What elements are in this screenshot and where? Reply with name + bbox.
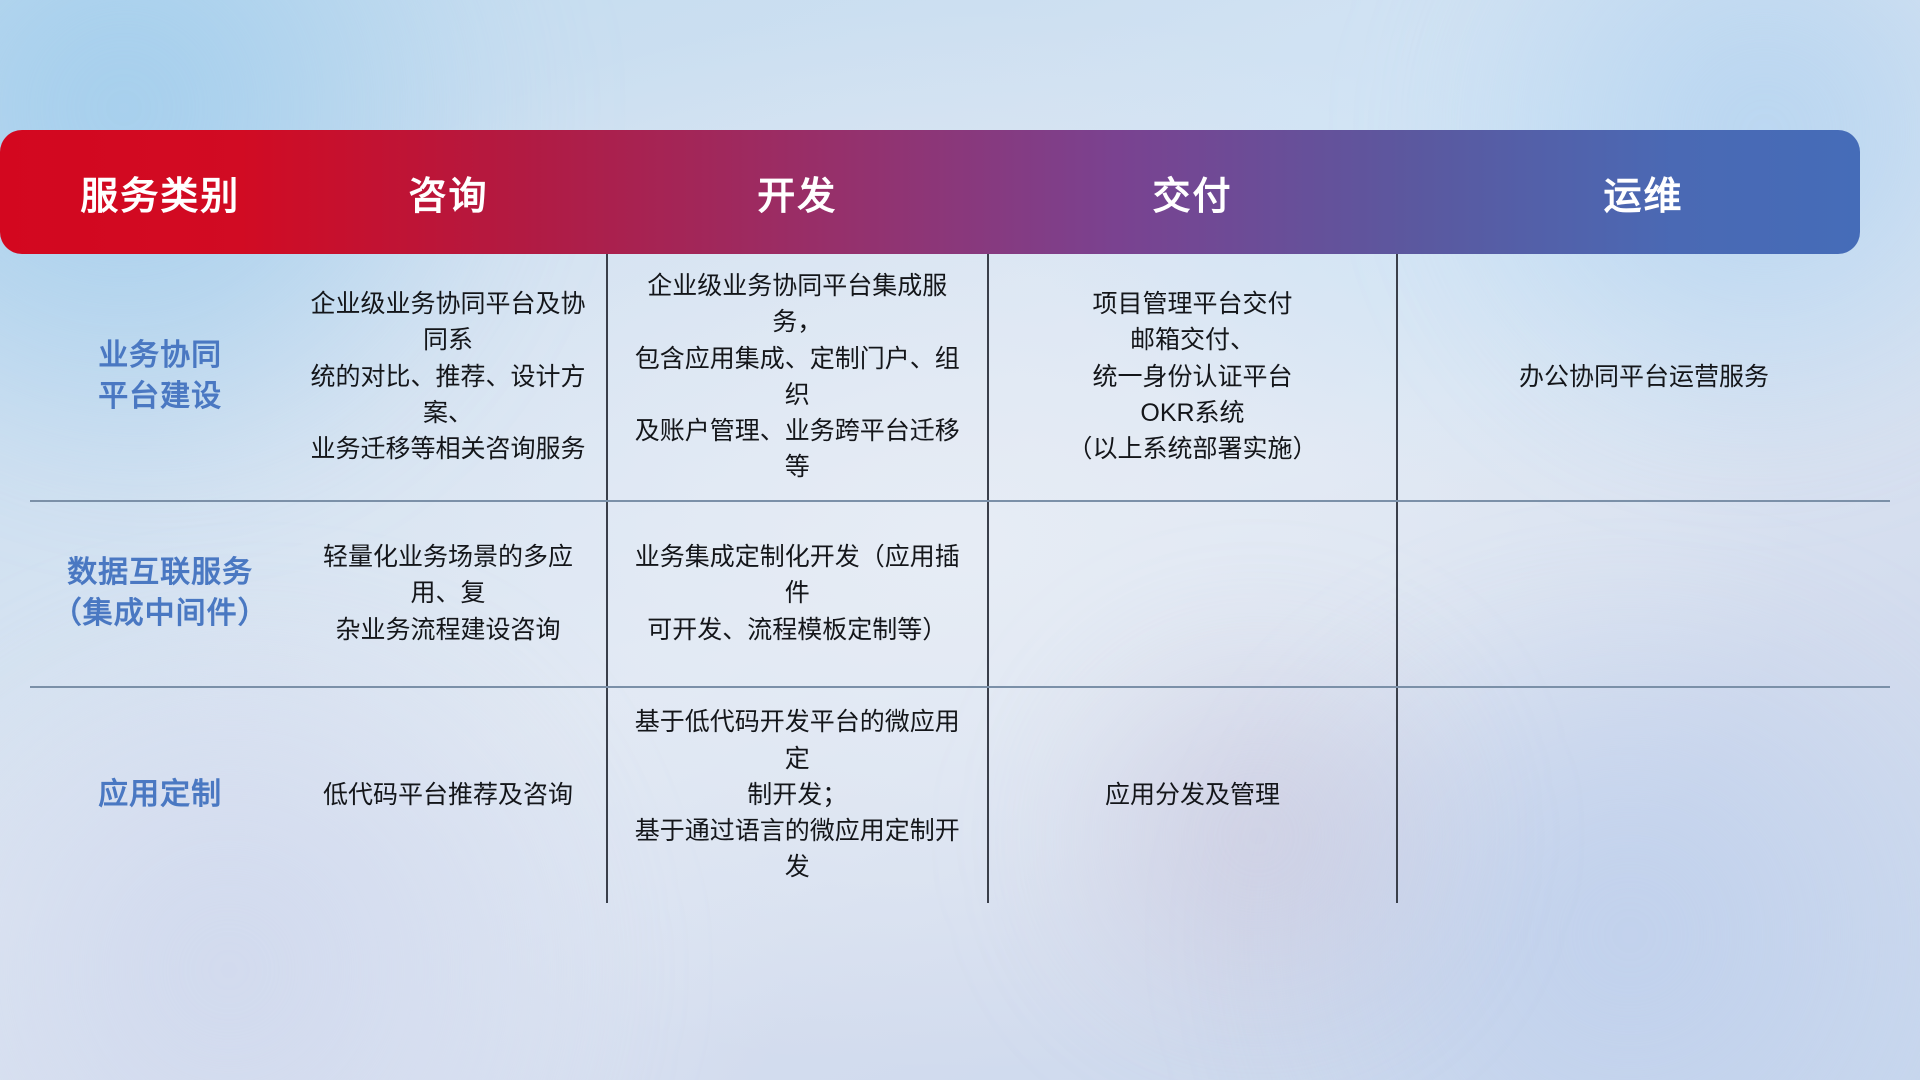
header-cell-delivery: 交付 — [988, 130, 1397, 254]
cell-text: 应用分发及管理 — [1105, 781, 1280, 809]
cell-category-row3: 应用定制 — [30, 687, 290, 903]
category-label: 数据互联服务 （集成中间件） — [52, 556, 269, 630]
service-matrix: 服务类别 咨询 开发 交付 运维 业务协同 平台建设 企业级业务协同平台及协同系… — [30, 130, 1890, 903]
cell-text: 企业级业务协同平台集成服务， 包含应用集成、定制门户、组织 及账户管理、业务跨平… — [635, 272, 960, 481]
cell-consulting-row3: 低代码平台推荐及咨询 — [290, 687, 606, 903]
header-cell-development: 开发 — [607, 130, 988, 254]
cell-development-row2: 业务集成定制化开发（应用插件 可开发、流程模板定制等） — [607, 501, 988, 687]
category-label: 应用定制 — [98, 778, 222, 811]
cell-text: 办公协同平台运营服务 — [1519, 363, 1769, 391]
cell-text: 项目管理平台交付 邮箱交付、 统一身份认证平台 OKR系统 （以上系统部署实施） — [1067, 290, 1317, 463]
table-row: 数据互联服务 （集成中间件） 轻量化业务场景的多应用、复 杂业务流程建设咨询 业… — [30, 501, 1890, 687]
header-cell-category: 服务类别 — [30, 130, 290, 254]
cell-text: 低代码平台推荐及咨询 — [323, 781, 573, 809]
cell-operations-row3 — [1397, 687, 1890, 903]
cell-development-row1: 企业级业务协同平台集成服务， 包含应用集成、定制门户、组织 及账户管理、业务跨平… — [607, 254, 988, 501]
header-row: 服务类别 咨询 开发 交付 运维 — [30, 130, 1890, 254]
table-head: 服务类别 咨询 开发 交付 运维 — [30, 130, 1890, 254]
cell-delivery-row3: 应用分发及管理 — [988, 687, 1397, 903]
cell-delivery-row2 — [988, 501, 1397, 687]
cell-text: 轻量化业务场景的多应用、复 杂业务流程建设咨询 — [323, 543, 573, 644]
cell-consulting-row2: 轻量化业务场景的多应用、复 杂业务流程建设咨询 — [290, 501, 606, 687]
cell-delivery-row1: 项目管理平台交付 邮箱交付、 统一身份认证平台 OKR系统 （以上系统部署实施） — [988, 254, 1397, 501]
cell-text: 企业级业务协同平台及协同系 统的对比、推荐、设计方案、 业务迁移等相关咨询服务 — [310, 290, 585, 463]
header-cell-consulting: 咨询 — [290, 130, 606, 254]
table-row: 应用定制 低代码平台推荐及咨询 基于低代码开发平台的微应用定 制开发； 基于通过… — [30, 687, 1890, 903]
cell-category-row1: 业务协同 平台建设 — [30, 254, 290, 501]
cell-consulting-row1: 企业级业务协同平台及协同系 统的对比、推荐、设计方案、 业务迁移等相关咨询服务 — [290, 254, 606, 501]
cell-text: 基于低代码开发平台的微应用定 制开发； 基于通过语言的微应用定制开发 — [635, 708, 960, 881]
cell-operations-row2 — [1397, 501, 1890, 687]
table-body: 业务协同 平台建设 企业级业务协同平台及协同系 统的对比、推荐、设计方案、 业务… — [30, 254, 1890, 903]
cell-development-row3: 基于低代码开发平台的微应用定 制开发； 基于通过语言的微应用定制开发 — [607, 687, 988, 903]
category-label: 业务协同 平台建设 — [98, 339, 222, 413]
header-cell-operations: 运维 — [1397, 130, 1890, 254]
cell-category-row2: 数据互联服务 （集成中间件） — [30, 501, 290, 687]
cell-text: 业务集成定制化开发（应用插件 可开发、流程模板定制等） — [635, 543, 960, 644]
table-row: 业务协同 平台建设 企业级业务协同平台及协同系 统的对比、推荐、设计方案、 业务… — [30, 254, 1890, 501]
service-table: 服务类别 咨询 开发 交付 运维 业务协同 平台建设 企业级业务协同平台及协同系… — [30, 130, 1890, 903]
cell-operations-row1: 办公协同平台运营服务 — [1397, 254, 1890, 501]
